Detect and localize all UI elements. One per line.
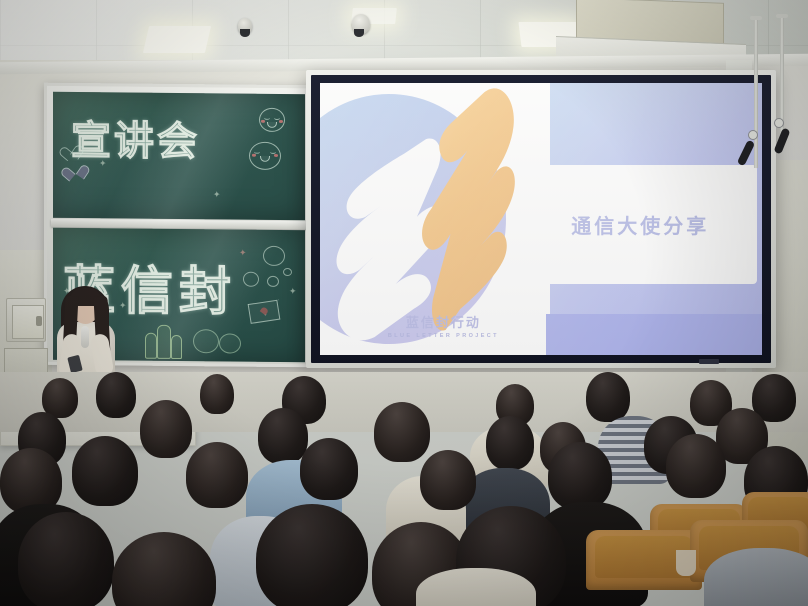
- light-panel-icon: [143, 26, 211, 53]
- slide: 蓝信封行动 BLUE LETTER PROJECT 通信大使分享: [320, 83, 762, 355]
- audience-head: [200, 374, 234, 414]
- audience-head: [666, 434, 726, 498]
- pole-cap: [776, 14, 788, 18]
- presentation-display[interactable]: 蓝信封行动 BLUE LETTER PROJECT 通信大使分享: [306, 70, 776, 368]
- audience-head: [374, 402, 430, 462]
- tree-doodle: [219, 333, 241, 353]
- display-bezel: 蓝信封行动 BLUE LETTER PROJECT 通信大使分享: [311, 75, 771, 363]
- speaker-mount: [774, 118, 784, 128]
- classroom-scene: 宣讲会 ✦ ✦ 蓝信封 ✦ ✦: [0, 0, 808, 606]
- security-camera-icon: [238, 18, 252, 34]
- envelope-doodle: [248, 300, 281, 324]
- cactus-doodle: [171, 335, 182, 359]
- heart-doodle: [62, 139, 80, 156]
- display-screen[interactable]: 蓝信封行动 BLUE LETTER PROJECT 通信大使分享: [320, 83, 762, 355]
- heart-doodle-filled: [64, 159, 86, 179]
- chalk-heading-line1: 宣讲会: [71, 108, 200, 167]
- face-blush: [261, 120, 265, 123]
- tree-doodle: [193, 329, 219, 353]
- ceiling-pole: [754, 18, 758, 168]
- cabinet-handle: [36, 316, 42, 326]
- audience-body: [704, 548, 808, 606]
- face-mouth: [260, 156, 270, 162]
- bubble-doodle: [243, 272, 259, 287]
- audience-head: [18, 512, 114, 606]
- logo-english-name: BLUE LETTER PROJECT: [376, 333, 510, 339]
- audience-head: [486, 416, 534, 470]
- audience-head: [140, 400, 192, 458]
- seat-divider: [676, 550, 696, 576]
- pole-cap: [750, 16, 762, 20]
- blackboard-upper-panel: 宣讲会 ✦ ✦: [53, 92, 305, 220]
- slide-title-card: 通信大使分享: [537, 165, 758, 285]
- audience-head: [96, 372, 136, 418]
- sparkle-doodle: ✦: [99, 158, 107, 169]
- slide-logo-panel: 蓝信封行动 BLUE LETTER PROJECT: [320, 83, 537, 355]
- audience-head: [420, 450, 476, 510]
- cactus-doodle: [157, 325, 171, 359]
- face-mouth: [267, 122, 277, 128]
- microphone-icon: [81, 326, 89, 348]
- audience-head: [548, 442, 612, 510]
- speaker-mount: [748, 130, 758, 140]
- sparkle-doodle: ✦: [289, 286, 297, 297]
- sparkle-doodle: ✦: [119, 300, 127, 311]
- audience-head: [256, 504, 368, 606]
- face-blush: [274, 154, 278, 157]
- audience-head: [112, 532, 216, 606]
- cactus-doodle: [145, 333, 157, 359]
- face-blush: [279, 120, 283, 123]
- security-camera-icon: [352, 14, 370, 34]
- bubble-doodle: [263, 246, 285, 266]
- reaching-hand-orange-icon: [402, 88, 523, 338]
- audience-head: [586, 372, 630, 422]
- smiling-face-doodle: [259, 108, 285, 132]
- display-brand-logo: [699, 359, 719, 364]
- slide-title: 通信大使分享: [571, 210, 709, 239]
- face-blush: [252, 154, 256, 157]
- logo-chinese-name: 蓝信封行动: [376, 312, 510, 331]
- bubble-doodle: [283, 268, 292, 276]
- slide-logo-text: 蓝信封行动 BLUE LETTER PROJECT: [376, 312, 510, 339]
- audience-head: [186, 442, 248, 508]
- smiling-face-doodle: [249, 142, 281, 170]
- audience: [0, 372, 808, 606]
- envelope-heart: [260, 306, 269, 315]
- sparkle-doodle: ✦: [213, 189, 221, 200]
- slide-bottom-band: [546, 314, 762, 355]
- audience-head: [300, 438, 358, 500]
- audience-head: [258, 408, 308, 464]
- bubble-doodle: [267, 276, 279, 287]
- sparkle-doodle: ✦: [239, 248, 247, 259]
- slide-title-panel: 通信大使分享: [537, 83, 762, 355]
- audience-head: [72, 436, 138, 506]
